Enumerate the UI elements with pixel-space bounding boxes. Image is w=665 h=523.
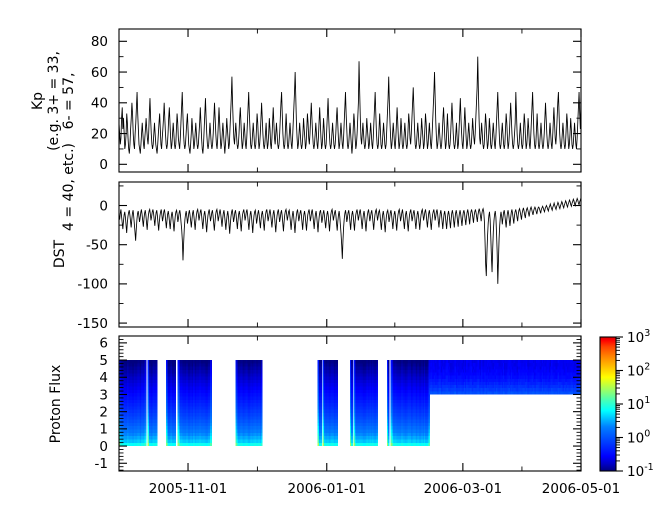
flux-cell <box>377 416 379 419</box>
flux-cell <box>428 416 430 419</box>
flux-cell <box>388 433 390 436</box>
flux-cell <box>210 413 212 416</box>
flux-cell <box>320 383 322 386</box>
flux-cell <box>261 403 263 406</box>
flux-cell <box>388 370 390 373</box>
flux-cell <box>336 436 338 439</box>
flux-cell <box>351 410 353 413</box>
flux-cell <box>261 420 263 423</box>
flux-cell <box>351 430 353 433</box>
flux-cell <box>174 380 176 383</box>
flux-cell <box>145 373 147 376</box>
flux-cell <box>261 436 263 439</box>
flux-cell <box>174 433 176 436</box>
flux-cell <box>377 439 379 442</box>
flux-cell <box>210 387 212 390</box>
flux-cell <box>320 420 322 423</box>
flux-cell <box>428 436 430 439</box>
flux-cell <box>210 360 212 363</box>
flux-cell <box>320 410 322 413</box>
flux-cell <box>388 383 390 386</box>
kp-axis-label-line2: (e.g. 3+ = 33, <box>46 51 62 151</box>
flux-cell <box>388 436 390 439</box>
flux-cell <box>261 426 263 429</box>
flux-cell <box>145 390 147 393</box>
flux-cell <box>336 396 338 399</box>
flux-cell <box>377 410 379 413</box>
flux-cell <box>377 377 379 380</box>
flux-cell <box>320 430 322 433</box>
kp-y-tick-label: 20 <box>91 126 108 142</box>
flux-cell <box>210 426 212 429</box>
flux-cell <box>156 436 158 439</box>
flux-cell <box>388 360 390 363</box>
flux-cell <box>145 393 147 396</box>
flux-cell <box>377 370 379 373</box>
flux-cell <box>174 383 176 386</box>
flux-cell <box>156 433 158 436</box>
flux-cell <box>388 363 390 366</box>
flux-cell <box>388 380 390 383</box>
flux-cell <box>261 406 263 409</box>
flux-cell <box>320 426 322 429</box>
flux-cell <box>320 400 322 403</box>
flux-cell <box>261 410 263 413</box>
flux-cell <box>388 413 390 416</box>
flux-cell <box>320 363 322 366</box>
kp-axis-label-line3: 6- = 57, <box>61 73 77 130</box>
flux-cell <box>261 430 263 433</box>
flux-cell <box>156 390 158 393</box>
flux-cell <box>377 423 379 426</box>
flux-cell <box>145 380 147 383</box>
flux-cell <box>351 367 353 370</box>
flux-cell <box>336 406 338 409</box>
flux-cell <box>210 410 212 413</box>
flux-cell <box>428 430 430 433</box>
flux-cell <box>336 410 338 413</box>
flux-cell <box>261 380 263 383</box>
flux-cell <box>210 396 212 399</box>
flux-cell <box>351 393 353 396</box>
kp-y-tick-label: 0 <box>99 157 108 173</box>
flux-cell <box>320 380 322 383</box>
flux-cell <box>428 420 430 423</box>
flux-cell <box>388 423 390 426</box>
flux-cell <box>351 413 353 416</box>
flux-cell <box>377 426 379 429</box>
flux-cell <box>377 387 379 390</box>
flux-cell <box>156 377 158 380</box>
flux-cell <box>377 403 379 406</box>
flux-cell <box>351 380 353 383</box>
flux-cell <box>156 367 158 370</box>
flux-cell <box>388 410 390 413</box>
flux-cell <box>174 400 176 403</box>
flux-cell <box>210 420 212 423</box>
flux-cell <box>261 400 263 403</box>
flux-cell <box>377 433 379 436</box>
flux-cell <box>174 396 176 399</box>
flux-cell <box>174 373 176 376</box>
flux-cell <box>156 370 158 373</box>
flux-cell <box>210 403 212 406</box>
flux-cell <box>351 377 353 380</box>
flux-cell <box>156 380 158 383</box>
flux-cell <box>388 416 390 419</box>
flux-cell <box>336 413 338 416</box>
flux-cell <box>351 373 353 376</box>
flux-cell <box>210 393 212 396</box>
flux-cell <box>351 363 353 366</box>
flux-cell <box>320 423 322 426</box>
flux-cell <box>174 443 176 446</box>
flux-cell <box>377 380 379 383</box>
flux-cell <box>174 430 176 433</box>
flux-cell <box>336 443 338 446</box>
flux-cell <box>351 433 353 436</box>
flux-cell <box>210 400 212 403</box>
flux-cell <box>377 363 379 366</box>
flux-cell <box>336 360 338 363</box>
flux-cell <box>388 377 390 380</box>
flux-cell <box>210 443 212 446</box>
flux-cell <box>261 439 263 442</box>
flux-cell <box>145 363 147 366</box>
flux-cell <box>336 439 338 442</box>
flux-cell <box>336 433 338 436</box>
flux-cell <box>428 413 430 416</box>
flux-cell <box>336 416 338 419</box>
flux-cell <box>174 413 176 416</box>
flux-cell <box>156 387 158 390</box>
flux-cell <box>145 430 147 433</box>
flux-cell <box>145 383 147 386</box>
flux-cell <box>351 436 353 439</box>
flux-cell <box>174 423 176 426</box>
flux-cell <box>351 406 353 409</box>
flux-cell <box>320 393 322 396</box>
flux-cell <box>145 423 147 426</box>
flux-cell <box>351 370 353 373</box>
flux-cell <box>210 430 212 433</box>
flux-cell <box>174 387 176 390</box>
flux-cell <box>174 360 176 363</box>
flux-cell <box>320 396 322 399</box>
flux-cell <box>210 439 212 442</box>
flux-cell <box>428 423 430 426</box>
flux-cell <box>174 416 176 419</box>
flux-cell <box>336 400 338 403</box>
flux-cell <box>377 367 379 370</box>
flux-cell <box>377 390 379 393</box>
flux-cell <box>377 406 379 409</box>
figure-canvas: 020406080 Kp (e.g. 3+ = 33, 6- = 57, 4 =… <box>0 0 665 523</box>
flux-cell <box>210 406 212 409</box>
flux-cell <box>145 426 147 429</box>
flux-cell <box>388 393 390 396</box>
flux-cell <box>351 387 353 390</box>
flux-cell <box>428 400 430 403</box>
flux-cell <box>351 439 353 442</box>
flux-cell <box>351 403 353 406</box>
flux-cell <box>336 387 338 390</box>
flux-cell <box>351 396 353 399</box>
flux-cell <box>174 410 176 413</box>
flux-cell <box>174 367 176 370</box>
kp-axis-label-line1: Kp <box>30 92 46 110</box>
flux-cell <box>336 390 338 393</box>
flux-cell <box>377 413 379 416</box>
flux-cell <box>388 390 390 393</box>
flux-cell <box>145 396 147 399</box>
flux-cell <box>145 436 147 439</box>
flux-cell <box>210 370 212 373</box>
flux-cell <box>156 423 158 426</box>
flux-cell <box>336 426 338 429</box>
flux-cell <box>336 363 338 366</box>
flux-cell <box>320 377 322 380</box>
flux-cell <box>145 439 147 442</box>
flux-cell <box>156 360 158 363</box>
flux-cell <box>261 373 263 376</box>
flux-cell <box>351 383 353 386</box>
flux-cell <box>428 443 430 446</box>
flux-cell <box>261 416 263 419</box>
flux-cell <box>210 377 212 380</box>
flux-cell <box>320 360 322 363</box>
flux-cell <box>145 416 147 419</box>
kp-y-tick-label: 40 <box>91 96 108 112</box>
flux-cell <box>261 367 263 370</box>
flux-cell <box>145 443 147 446</box>
flux-cell <box>210 380 212 383</box>
flux-cell <box>428 439 430 442</box>
flux-cell <box>174 370 176 373</box>
flux-cell <box>261 390 263 393</box>
flux-cell <box>261 393 263 396</box>
flux-cell <box>145 387 147 390</box>
flux-cell <box>145 420 147 423</box>
flux-cell <box>145 367 147 370</box>
flux-cell <box>377 373 379 376</box>
flux-cell <box>156 413 158 416</box>
flux-cell <box>320 403 322 406</box>
flux-cell <box>336 420 338 423</box>
flux-cell <box>145 360 147 363</box>
flux-cell <box>428 410 430 413</box>
flux-cell <box>351 400 353 403</box>
flux-cell <box>156 396 158 399</box>
flux-cell <box>336 370 338 373</box>
flux-cell <box>388 367 390 370</box>
kp-y-tick-label: 80 <box>91 34 108 50</box>
flux-cell <box>210 390 212 393</box>
flux-cell <box>174 439 176 442</box>
flux-cell <box>261 443 263 446</box>
flux-cell <box>210 383 212 386</box>
flux-cell <box>388 396 390 399</box>
flux-cell <box>377 430 379 433</box>
flux-cell <box>261 396 263 399</box>
flux-cell <box>351 423 353 426</box>
flux-cell <box>377 400 379 403</box>
flux-cell <box>156 430 158 433</box>
flux-cell <box>388 373 390 376</box>
flux-cell <box>336 380 338 383</box>
flux-cell <box>156 420 158 423</box>
flux-cell <box>320 433 322 436</box>
flux-cell <box>174 436 176 439</box>
flux-cell <box>210 416 212 419</box>
flux-cell <box>174 420 176 423</box>
flux-cell <box>388 387 390 390</box>
dst-y-tick-label: -50 <box>86 238 108 254</box>
flux-cell <box>320 416 322 419</box>
flux-cell <box>145 370 147 373</box>
flux-cell <box>351 443 353 446</box>
flux-cell <box>156 383 158 386</box>
flux-cell <box>174 403 176 406</box>
flux-cell <box>320 390 322 393</box>
flux-cell <box>156 403 158 406</box>
flux-cell <box>320 406 322 409</box>
kp-axis-label-line4: 4 = 40, etc.) <box>61 143 77 231</box>
flux-cell <box>174 363 176 366</box>
flux-cell <box>336 367 338 370</box>
flux-cell <box>320 439 322 442</box>
flux-cell <box>351 416 353 419</box>
flux-cell <box>320 367 322 370</box>
flux-cell <box>428 426 430 429</box>
flux-cell <box>261 383 263 386</box>
flux-cell <box>351 420 353 423</box>
flux-cell <box>174 390 176 393</box>
flux-cell <box>351 426 353 429</box>
dst-y-tick-label: 0 <box>99 198 108 214</box>
flux-cell <box>156 410 158 413</box>
flux-cell <box>336 373 338 376</box>
flux-cell <box>377 396 379 399</box>
flux-cell <box>320 413 322 416</box>
flux-cell <box>428 403 430 406</box>
flux-cell <box>261 423 263 426</box>
dst-axis-label: DST <box>52 239 68 268</box>
flux-cell <box>428 433 430 436</box>
flux-cell <box>145 377 147 380</box>
flux-cell <box>145 400 147 403</box>
flux-cell <box>210 423 212 426</box>
flux-cell <box>145 413 147 416</box>
flux-cell <box>156 406 158 409</box>
flux-cell <box>388 400 390 403</box>
flux-cell <box>210 436 212 439</box>
flux-cell <box>336 393 338 396</box>
flux-cell <box>428 406 430 409</box>
flux-cell <box>210 433 212 436</box>
flux-cell <box>145 403 147 406</box>
flux-cell <box>261 370 263 373</box>
flux-cell <box>320 443 322 446</box>
flux-cell <box>174 406 176 409</box>
flux-cell <box>261 377 263 380</box>
flux-cell <box>156 373 158 376</box>
flux-cell <box>156 400 158 403</box>
flux-cell <box>388 403 390 406</box>
scientific-figure: 020406080 Kp (e.g. 3+ = 33, 6- = 57, 4 =… <box>0 0 665 523</box>
flux-cell <box>145 433 147 436</box>
flux-cell <box>336 430 338 433</box>
flux-cell <box>156 393 158 396</box>
flux-cell <box>320 370 322 373</box>
flux-cell <box>156 416 158 419</box>
flux-cell <box>145 410 147 413</box>
dst-y-tick-label: -150 <box>77 316 108 332</box>
flux-cell <box>377 443 379 446</box>
flux-cell <box>320 436 322 439</box>
flux-cell <box>261 433 263 436</box>
flux-cell <box>261 413 263 416</box>
dst-y-tick-label: -100 <box>77 277 108 293</box>
flux-cell <box>156 363 158 366</box>
flux-cell <box>351 390 353 393</box>
flux-cell <box>210 373 212 376</box>
flux-cell <box>388 426 390 429</box>
flux-cell <box>388 443 390 446</box>
flux-cell <box>377 360 379 363</box>
flux-cell <box>336 403 338 406</box>
kp-y-tick-label: 60 <box>91 65 108 81</box>
flux-cell <box>388 406 390 409</box>
flux-cell <box>320 373 322 376</box>
flux-cell <box>210 367 212 370</box>
flux-cell <box>156 426 158 429</box>
flux-cell <box>388 439 390 442</box>
flux-cell <box>377 393 379 396</box>
flux-cell <box>388 430 390 433</box>
flux-cell <box>156 443 158 446</box>
flux-cell <box>377 383 379 386</box>
flux-cell <box>174 426 176 429</box>
flux-cell <box>174 377 176 380</box>
flux-cell <box>320 387 322 390</box>
flux-cell <box>210 363 212 366</box>
flux-cell <box>377 420 379 423</box>
flux-cell <box>336 383 338 386</box>
flux-cell <box>174 393 176 396</box>
flux-cell <box>261 363 263 366</box>
flux-cell <box>145 406 147 409</box>
flux-cell <box>156 439 158 442</box>
flux-cell <box>336 423 338 426</box>
flux-cell <box>428 396 430 399</box>
flux-cell <box>261 387 263 390</box>
flux-cell <box>388 420 390 423</box>
flux-cell <box>336 377 338 380</box>
flux-cell <box>377 436 379 439</box>
flux-cell <box>351 360 353 363</box>
flux-cell <box>261 360 263 363</box>
